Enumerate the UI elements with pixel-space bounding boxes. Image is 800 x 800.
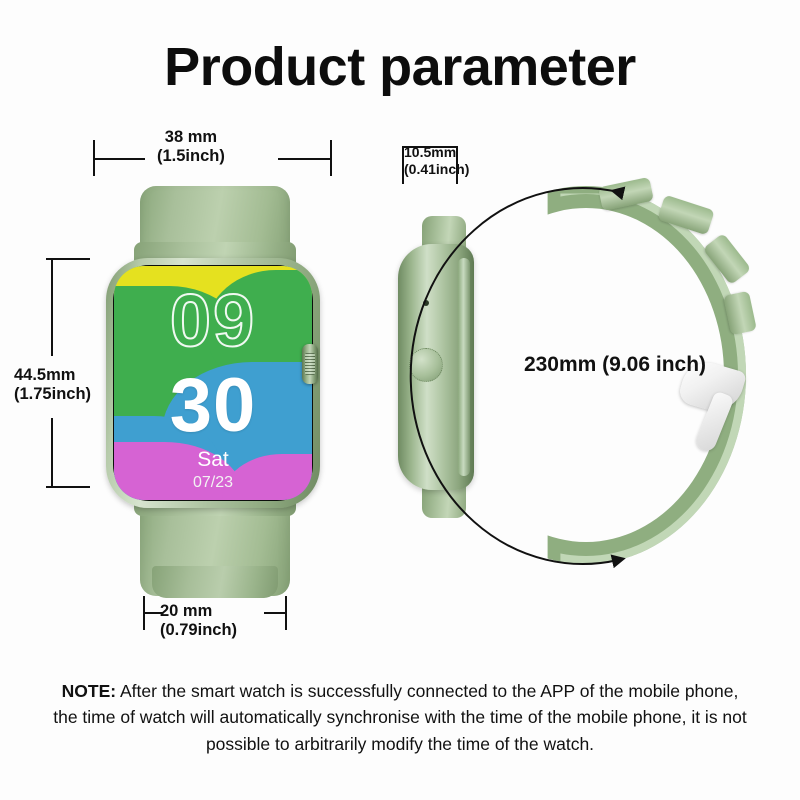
height-dimension-label: 44.5mm (1.75inch) — [14, 366, 91, 405]
note-label: NOTE: — [62, 681, 116, 701]
height-dimension-inch: (1.75inch) — [14, 385, 91, 404]
thickness-dimension-mm: 10.5mm — [404, 144, 456, 160]
height-dim-line-bottom — [51, 418, 53, 486]
watch-front-view: 09 30 Sat 07/23 — [96, 186, 332, 596]
circumference-dimension-mm: 230mm — [524, 353, 596, 376]
width-dim-tick-right — [330, 140, 332, 176]
watch-band-loop-view: 230mm (9.06 inch) — [404, 176, 774, 576]
watch-face-minute: 30 — [114, 368, 312, 444]
strap-lower-taper — [152, 566, 278, 598]
product-parameter-page: Product parameter 38 mm (1.5inch) 44.5mm… — [0, 0, 800, 800]
circumference-dimension-inch: (9.06 inch) — [602, 353, 706, 376]
width-dimension-inch: (1.5inch) — [157, 147, 225, 166]
watch-face-date: 07/23 — [114, 474, 312, 492]
thickness-dimension-inch: (0.41inch) — [404, 161, 469, 178]
note-body: After the smart watch is successfully co… — [53, 681, 747, 754]
strap-width-dimension-label: 20 mm (0.79inch) — [160, 602, 237, 641]
note-text: NOTE: After the smart watch is successfu… — [52, 678, 748, 757]
watch-face-hour: 09 — [114, 284, 312, 358]
width-dim-line-right — [278, 158, 330, 160]
height-dim-line-top — [51, 258, 53, 356]
strap-width-dimension-mm: 20 mm — [160, 602, 212, 620]
crown-ridges-icon — [305, 353, 315, 375]
watch-face-weekday: Sat — [114, 448, 312, 472]
watch-screen: 09 30 Sat 07/23 — [114, 266, 312, 500]
strap-width-dimension-inch: (0.79inch) — [160, 621, 237, 640]
height-dim-tick-bottom — [46, 486, 90, 488]
height-dimension-mm: 44.5mm — [14, 366, 75, 384]
page-title: Product parameter — [0, 36, 800, 98]
width-dim-line-left — [93, 158, 145, 160]
circumference-dimension-label: 230mm (9.06 inch) — [520, 352, 710, 379]
width-dimension-mm: 38 mm — [165, 128, 217, 146]
width-dimension-label: 38 mm (1.5inch) — [157, 128, 225, 167]
strap-dim-line-right — [264, 612, 286, 614]
crown-icon — [302, 344, 318, 384]
thickness-dimension-label: 10.5mm (0.41inch) — [404, 144, 469, 177]
